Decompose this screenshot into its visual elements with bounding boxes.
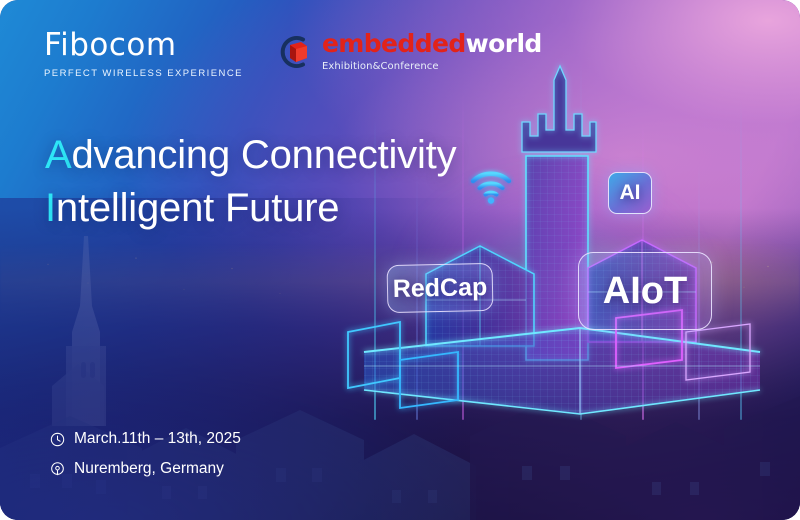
badge-ai[interactable]: AI xyxy=(608,172,652,214)
badge-redcap-label: RedCap xyxy=(392,273,487,304)
badge-aiot[interactable]: AIoT xyxy=(578,252,712,330)
embedded-world-wordmark: embeddedworld xyxy=(322,31,542,56)
headline: Advancing Connectivity Intelligent Futur… xyxy=(45,129,456,235)
headline-line-1: Advancing Connectivity xyxy=(45,129,456,182)
headline-line-1-rest: dvancing Connectivity xyxy=(71,133,456,177)
fibocom-wordmark: Fibocom xyxy=(44,30,243,61)
fibocom-tagline: PERFECT WIRELESS EXPERIENCE xyxy=(44,68,243,79)
event-location-row: Nuremberg, Germany xyxy=(50,454,241,484)
badge-ai-label: AI xyxy=(620,181,641,205)
map-pin-icon xyxy=(50,462,65,477)
event-promo-banner: RedCap AIoT AI Fibocom PERFECT WIRELESS … xyxy=(0,0,800,520)
embedded-word: embedded xyxy=(322,29,466,58)
headline-line-2-initial: I xyxy=(45,186,56,230)
embedded-world-logo[interactable]: embeddedworld Exhibition&Conference xyxy=(277,30,542,72)
badge-redcap[interactable]: RedCap xyxy=(387,263,494,313)
world-word: world xyxy=(466,29,542,58)
embedded-world-text: embeddedworld Exhibition&Conference xyxy=(322,31,542,72)
headline-line-2: Intelligent Future xyxy=(45,182,456,235)
event-date-row: March.11th – 13th, 2025 xyxy=(50,424,241,454)
event-info: March.11th – 13th, 2025 Nuremberg, Germa… xyxy=(50,424,241,484)
headline-line-1-initial: A xyxy=(45,133,71,177)
headline-line-2-rest: ntelligent Future xyxy=(56,186,339,230)
logo-row: Fibocom PERFECT WIRELESS EXPERIENCE embe… xyxy=(44,30,542,79)
event-date: March.11th – 13th, 2025 xyxy=(74,424,241,454)
embedded-world-subtitle: Exhibition&Conference xyxy=(322,62,542,72)
fibocom-logo[interactable]: Fibocom PERFECT WIRELESS EXPERIENCE xyxy=(44,30,243,79)
event-location: Nuremberg, Germany xyxy=(74,454,224,484)
clock-icon xyxy=(50,432,65,447)
wifi-signal-icon xyxy=(468,166,514,206)
wireframe-castle-illustration xyxy=(330,60,770,420)
badge-aiot-label: AIoT xyxy=(603,270,687,313)
cube-ring-icon xyxy=(277,34,313,70)
